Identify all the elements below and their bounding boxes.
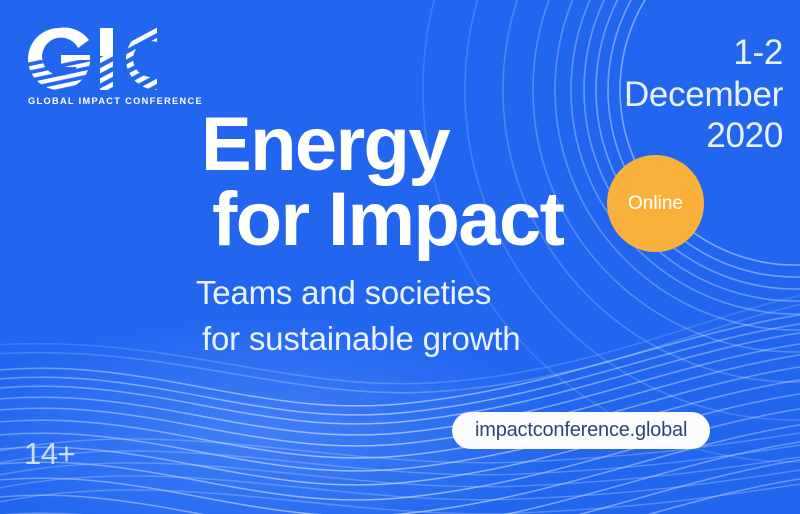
- headline-line-1: Energy: [201, 107, 631, 182]
- event-date-days: 1-2: [624, 32, 783, 74]
- logo-tagline: GLOBAL IMPACT CONFERENCE: [26, 97, 198, 106]
- subheadline-line-2: for sustainable growth: [202, 316, 520, 362]
- logo-letter-c: [118, 26, 190, 92]
- logo[interactable]: GLOBAL IMPACT CONFERENCE: [26, 26, 198, 106]
- online-badge: Online: [607, 155, 704, 252]
- website-url-pill[interactable]: impactconference.global: [452, 412, 710, 449]
- logo-letter-g: [26, 26, 96, 92]
- website-url-label: impactconference.global: [475, 419, 687, 442]
- conference-poster: GLOBAL IMPACT CONFERENCE Energy for Impa…: [0, 0, 800, 514]
- online-badge-label: Online: [628, 193, 683, 215]
- gic-logo-mark: [26, 26, 191, 92]
- age-rating: 14+: [24, 436, 75, 472]
- event-date-year: 2020: [624, 115, 783, 157]
- headline: Energy for Impact: [201, 107, 631, 257]
- event-date: 1-2 December 2020: [624, 32, 783, 157]
- subheadline: Teams and societies for sustainable grow…: [196, 270, 520, 361]
- logo-letter-i: [96, 26, 118, 92]
- headline-line-2: for Impact: [212, 182, 631, 257]
- subheadline-line-1: Teams and societies: [196, 270, 520, 316]
- event-date-month: December: [624, 74, 783, 116]
